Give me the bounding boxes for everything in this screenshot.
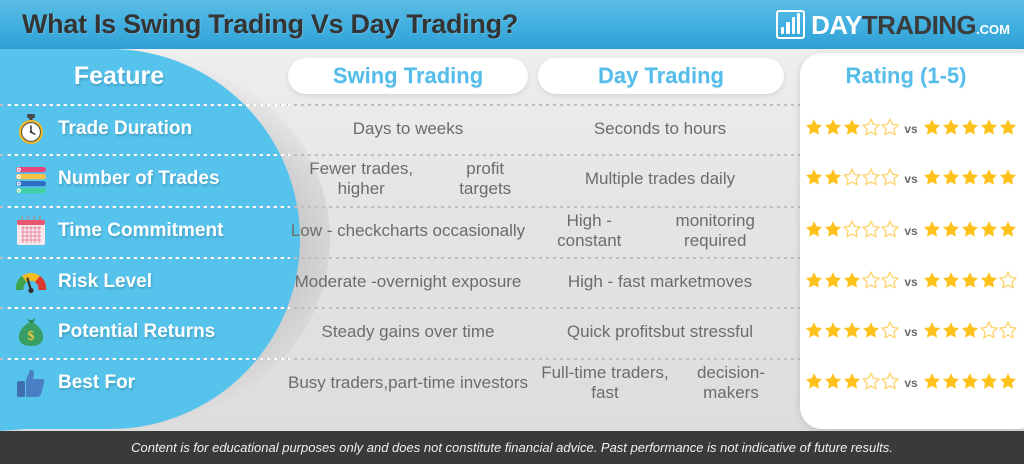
swing-trading-cell: Days to weeks — [284, 104, 532, 154]
star-icon — [843, 168, 861, 191]
money-bag-icon: $ — [14, 315, 48, 349]
column-header-rating: Rating (1-5) — [800, 58, 1012, 94]
star-icon — [805, 372, 823, 395]
feature-label: Best For — [58, 372, 135, 394]
table-row: Best ForBusy traders,part-time investors… — [0, 358, 1024, 408]
star-icon — [805, 321, 823, 344]
day-trading-cell: High - constantmonitoring required — [534, 206, 786, 256]
star-icon — [824, 168, 842, 191]
star-icon — [862, 271, 880, 294]
rating-cell: vs — [802, 206, 1020, 256]
table-row: Trade DurationDays to weeksSeconds to ho… — [0, 104, 1024, 154]
feature-label: Number of Trades — [58, 168, 220, 190]
thumbs-up-icon — [14, 366, 48, 400]
star-icon — [942, 372, 960, 395]
stars-swing — [805, 321, 899, 344]
star-icon — [843, 271, 861, 294]
star-icon — [843, 372, 861, 395]
star-icon — [999, 271, 1017, 294]
page-title: What Is Swing Trading Vs Day Trading? — [22, 9, 518, 40]
swing-trading-cell: Moderate -overnight exposure — [284, 257, 532, 307]
star-icon — [961, 321, 979, 344]
star-icon — [824, 220, 842, 243]
day-trading-cell: Seconds to hours — [534, 104, 786, 154]
star-icon — [862, 118, 880, 141]
star-icon — [843, 220, 861, 243]
star-icon — [824, 271, 842, 294]
stars-day — [923, 271, 1017, 294]
logo-text-com: .COM — [976, 22, 1010, 37]
star-icon — [805, 220, 823, 243]
table-row: Number of TradesFewer trades, higherprof… — [0, 154, 1024, 204]
star-icon — [923, 271, 941, 294]
star-icon — [881, 372, 899, 395]
star-icon — [942, 118, 960, 141]
rating-cell: vs — [802, 307, 1020, 357]
infographic-root: What Is Swing Trading Vs Day Trading? DA… — [0, 0, 1024, 464]
star-icon — [999, 118, 1017, 141]
feature-cell: Risk Level — [14, 257, 289, 307]
star-icon — [980, 118, 998, 141]
day-trading-cell: Quick profitsbut stressful — [534, 307, 786, 357]
stars-swing — [805, 372, 899, 395]
rating-cell: vs — [802, 104, 1020, 154]
feature-label: Risk Level — [58, 271, 152, 293]
star-icon — [961, 168, 979, 191]
stars-swing — [805, 168, 899, 191]
vs-label: vs — [904, 325, 917, 339]
vs-label: vs — [904, 122, 917, 136]
feature-label: Trade Duration — [58, 118, 192, 140]
stars-day — [923, 321, 1017, 344]
star-icon — [843, 118, 861, 141]
vs-label: vs — [904, 224, 917, 238]
star-icon — [824, 321, 842, 344]
list-bars-icon — [14, 162, 48, 196]
star-icon — [942, 321, 960, 344]
star-icon — [980, 372, 998, 395]
feature-cell: Best For — [14, 358, 289, 408]
feature-cell: $Potential Returns — [14, 307, 289, 357]
star-icon — [805, 168, 823, 191]
stars-swing — [805, 271, 899, 294]
star-icon — [923, 321, 941, 344]
star-icon — [942, 220, 960, 243]
stars-swing — [805, 118, 899, 141]
star-icon — [942, 271, 960, 294]
feature-cell: Number of Trades — [14, 154, 289, 204]
feature-label: Potential Returns — [58, 321, 215, 343]
star-icon — [881, 271, 899, 294]
star-icon — [961, 220, 979, 243]
star-icon — [923, 118, 941, 141]
stopwatch-icon — [14, 112, 48, 146]
table-row: Time CommitmentLow - checkcharts occasio… — [0, 206, 1024, 256]
star-icon — [805, 271, 823, 294]
star-icon — [980, 168, 998, 191]
column-header-swing-trading: Swing Trading — [288, 58, 528, 94]
star-icon — [942, 168, 960, 191]
star-icon — [999, 372, 1017, 395]
vs-label: vs — [904, 376, 917, 390]
column-header-feature: Feature — [0, 58, 238, 94]
star-icon — [824, 372, 842, 395]
star-icon — [923, 168, 941, 191]
table-row: Risk LevelModerate -overnight exposureHi… — [0, 257, 1024, 307]
swing-trading-cell: Busy traders,part-time investors — [284, 358, 532, 408]
star-icon — [862, 168, 880, 191]
star-icon — [923, 372, 941, 395]
star-icon — [862, 220, 880, 243]
star-icon — [923, 220, 941, 243]
feature-cell: Trade Duration — [14, 104, 289, 154]
rating-cell: vs — [802, 358, 1020, 408]
vs-label: vs — [904, 172, 917, 186]
header-bar: What Is Swing Trading Vs Day Trading? DA… — [0, 0, 1024, 49]
star-icon — [881, 220, 899, 243]
star-icon — [881, 168, 899, 191]
star-icon — [961, 372, 979, 395]
stars-swing — [805, 220, 899, 243]
day-trading-cell: Multiple trades daily — [534, 154, 786, 204]
bar-chart-icon — [776, 10, 805, 39]
swing-trading-cell: Low - checkcharts occasionally — [284, 206, 532, 256]
star-icon — [862, 372, 880, 395]
star-icon — [805, 118, 823, 141]
stars-day — [923, 118, 1017, 141]
logo-text-trading: TRADING — [862, 10, 976, 40]
logo-text-day: DAY — [811, 10, 862, 40]
rating-cell: vs — [802, 154, 1020, 204]
feature-cell: Time Commitment — [14, 206, 289, 256]
comparison-grid: Feature Swing Trading Day Trading Rating… — [0, 49, 1024, 429]
column-header-day-trading: Day Trading — [538, 58, 784, 94]
day-trading-cell: Full-time traders, fastdecision-makers — [534, 358, 786, 408]
star-icon — [881, 321, 899, 344]
disclaimer-text: Content is for educational purposes only… — [131, 440, 893, 455]
star-icon — [961, 118, 979, 141]
day-trading-cell: High - fast marketmoves — [534, 257, 786, 307]
star-icon — [843, 321, 861, 344]
star-icon — [999, 321, 1017, 344]
star-icon — [999, 220, 1017, 243]
daytrading-logo[interactable]: DAYTRADING.COM — [776, 10, 1010, 39]
feature-label: Time Commitment — [58, 220, 223, 242]
swing-trading-cell: Steady gains over time — [284, 307, 532, 357]
swing-trading-cell: Fewer trades, higherprofit targets — [284, 154, 532, 204]
table-row: $Potential ReturnsSteady gains over time… — [0, 307, 1024, 357]
star-icon — [862, 321, 880, 344]
star-icon — [881, 118, 899, 141]
star-icon — [980, 271, 998, 294]
star-icon — [999, 168, 1017, 191]
star-icon — [980, 220, 998, 243]
stars-day — [923, 372, 1017, 395]
star-icon — [961, 271, 979, 294]
star-icon — [824, 118, 842, 141]
gauge-icon — [14, 265, 48, 299]
stars-day — [923, 168, 1017, 191]
footer-bar: Content is for educational purposes only… — [0, 431, 1024, 464]
star-icon — [980, 321, 998, 344]
calendar-icon — [14, 214, 48, 248]
rating-cell: vs — [802, 257, 1020, 307]
vs-label: vs — [904, 275, 917, 289]
stars-day — [923, 220, 1017, 243]
svg-text:$: $ — [28, 329, 35, 344]
